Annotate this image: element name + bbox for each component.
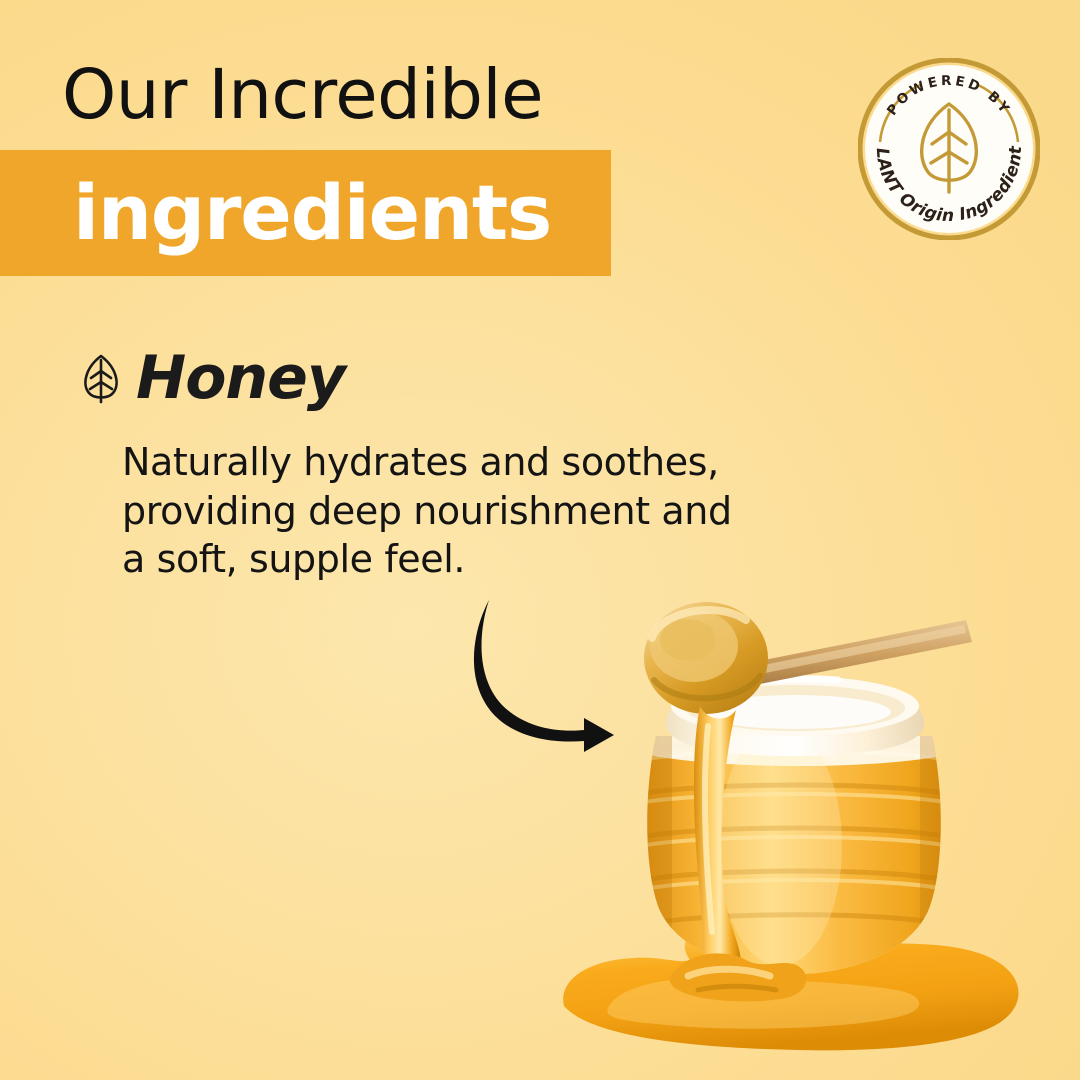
headline-highlight-band: ingredients <box>0 150 611 276</box>
ingredient-title-row: Honey <box>78 348 778 408</box>
ingredient-name: Honey <box>136 348 345 408</box>
page-title-line1: Our Incredible <box>0 60 700 130</box>
plant-origin-badge: POWERED BY PLANT Origin Ingredients <box>858 58 1040 240</box>
ingredient-poster: Our Incredible ingredients <box>0 0 1080 1080</box>
headline-block: Our Incredible ingredients <box>0 60 700 276</box>
honey-jar-image <box>548 546 1048 1066</box>
page-title-line2: ingredients <box>0 175 551 251</box>
leaf-icon <box>78 352 124 404</box>
beehive-shaped-glass-jar <box>638 676 958 982</box>
